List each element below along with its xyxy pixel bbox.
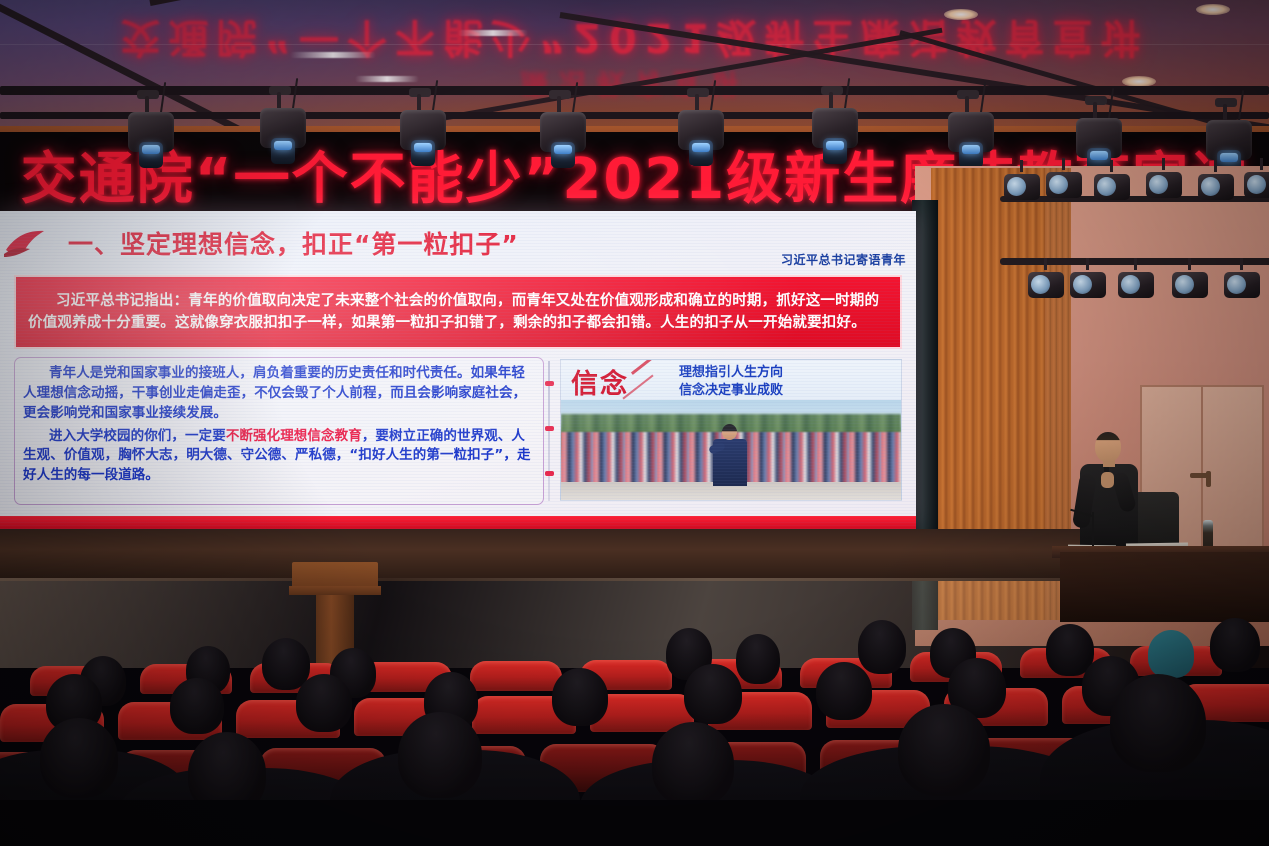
photo-card-crowd-image <box>561 400 901 500</box>
audience-head <box>858 620 906 674</box>
slide-body-p2-prefix: 进入大学校园的你们，一定要 <box>49 428 226 444</box>
audience-head <box>736 634 780 684</box>
slide-speaker-note: 习近平总书记寄语青年 <box>781 251 906 268</box>
headline-slash-decor <box>631 359 669 375</box>
photo-card-header: 信念 理想指引人生方向 信念决定事业成败 <box>561 360 901 400</box>
moving-head-light <box>540 112 586 176</box>
divider-dot <box>545 426 554 431</box>
divider-dot <box>545 471 554 476</box>
presenter <box>1076 432 1142 554</box>
lecture-hall-photo: 交通院“一个不能少”2021级新生廉洁教育宣讲 廉洁教育宣讲 交通院“一个不能少… <box>0 0 1269 846</box>
ceiling-panel-line <box>0 44 1269 45</box>
auditorium-seat <box>470 661 562 691</box>
audience-head <box>40 718 118 798</box>
projected-slide: 一、坚定理想信念，扣正“第一粒扣子” 习近平总书记寄语青年 习近平总书记指出：青… <box>0 211 916 529</box>
par-can-light <box>1224 266 1260 300</box>
crowd-leader-figure <box>713 424 747 486</box>
par-can-light <box>1070 266 1106 300</box>
ceiling-downlight <box>944 9 978 20</box>
slide-body-p2-highlight: 不断强化理想信念教育 <box>226 428 362 444</box>
photo-card-headline: 信念 <box>571 362 629 401</box>
audience-head <box>652 722 734 806</box>
slide-title-row: 一、坚定理想信念，扣正“第一粒扣子” <box>0 223 916 263</box>
moving-head-light <box>128 112 174 176</box>
photo-card-slogan: 理想指引人生方向 信念决定事业成败 <box>679 364 783 399</box>
moving-head-light <box>400 110 446 174</box>
audience-head <box>170 678 224 734</box>
stage-skirt <box>0 529 1160 581</box>
slide-quote-box: 习近平总书记指出：青年的价值取向决定了未来整个社会的价值取向，而青年又处在价值观… <box>14 275 902 349</box>
lectern-top <box>292 562 378 588</box>
moving-head-light <box>260 108 306 172</box>
slide-body-box: 青年人是党和国家事业的接班人，肩负着重要的历史责任和时代责任。如果年轻人理想信念… <box>14 357 544 505</box>
par-can-light <box>1028 266 1064 300</box>
door-handle-icon <box>1206 471 1211 487</box>
ceiling-tube-light <box>355 76 419 82</box>
audience-head <box>1210 618 1260 672</box>
slide-body-paragraph-1: 青年人是党和国家事业的接班人，肩负着重要的历史责任和时代责任。如果年轻人理想信念… <box>23 364 535 424</box>
slide-quote-text: 习近平总书记指出：青年的价值取向决定了未来整个社会的价值取向，而青年又处在价值观… <box>16 287 900 338</box>
photo-card-slogan-line2: 信念决定事业成败 <box>679 382 783 400</box>
par-can-light <box>1046 166 1082 200</box>
slide-photo-card: 信念 理想指引人生方向 信念决定事业成败 <box>560 359 902 501</box>
audience-head <box>552 668 608 726</box>
slide-bottom-bar <box>0 516 916 529</box>
par-can-light <box>1004 168 1040 202</box>
audience-head-teal-headwear <box>1148 630 1194 678</box>
audience-head <box>1110 674 1206 772</box>
par-can-light <box>1244 166 1269 200</box>
audience-area <box>0 600 1269 846</box>
par-can-light <box>1094 168 1130 202</box>
ceiling-tube-light <box>290 52 376 58</box>
audience-head <box>296 674 352 732</box>
audience-head <box>398 712 482 798</box>
moving-head-light <box>678 110 724 174</box>
audience-head <box>816 662 872 720</box>
divider-dot <box>545 381 554 386</box>
slide-title: 一、坚定理想信念，扣正“第一粒扣子” <box>68 225 519 261</box>
par-can-light <box>1172 266 1208 300</box>
par-can-light <box>1118 266 1154 300</box>
truss-horizontal-bar <box>0 86 1269 95</box>
ceiling-tube-light <box>458 30 528 36</box>
audience-head <box>898 704 990 796</box>
par-can-light <box>1198 168 1234 202</box>
photo-card-slogan-line1: 理想指引人生方向 <box>679 364 783 382</box>
lectern-lip <box>289 586 381 595</box>
audience-head <box>684 664 742 724</box>
slide-body-paragraph-2: 进入大学校园的你们，一定要不断强化理想信念教育，要树立正确的世界观、人生观、价值… <box>23 427 535 487</box>
audience-foreground-mass <box>0 800 1269 846</box>
slide-vertical-divider <box>548 361 550 501</box>
ceiling-downlight <box>1196 4 1230 15</box>
moving-head-light <box>812 108 858 172</box>
par-can-light <box>1146 166 1182 200</box>
red-ribbon-flag-icon <box>4 228 60 258</box>
